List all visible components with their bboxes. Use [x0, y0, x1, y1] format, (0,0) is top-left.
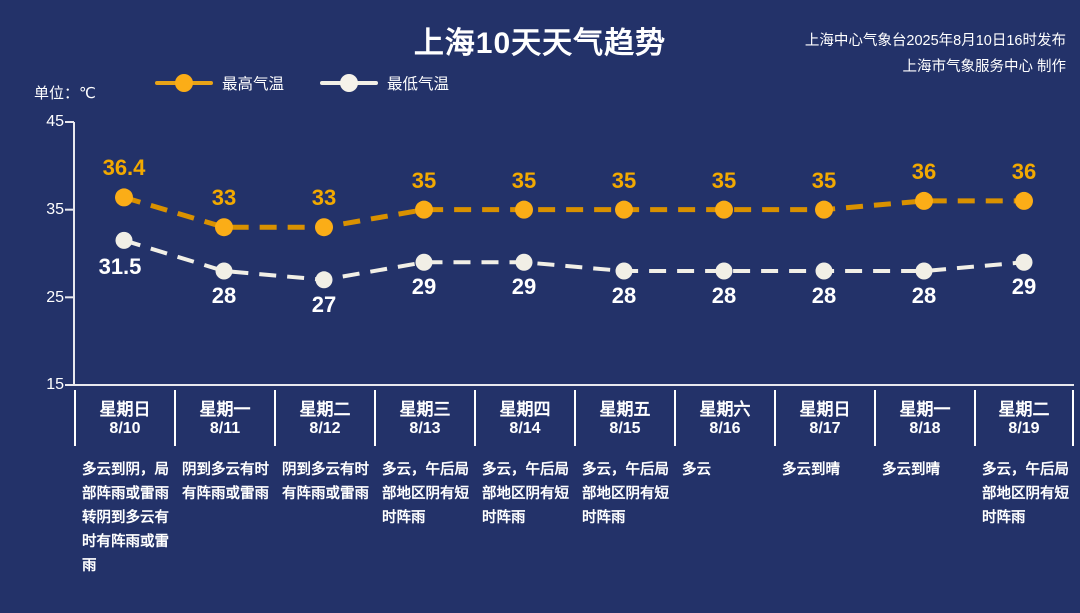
- weather-trend-infographic: 上海10天天气趋势 上海中心气象台2025年8月10日16时发布 上海市气象服务…: [0, 0, 1080, 613]
- low-temp-label: 28: [212, 283, 236, 309]
- day-weather-description: 多云到晴: [874, 458, 974, 482]
- day-column-header[interactable]: 星期日8/17: [774, 390, 874, 446]
- day-weather-description: 多云到阴，局部阵雨或雷雨转阴到多云有时有阵雨或雷雨: [74, 458, 174, 578]
- high-temp-label: 35: [412, 168, 436, 194]
- day-weather-description: 多云，午后局部地区阴有短时阵雨: [374, 458, 474, 530]
- low-temp-label: 28: [612, 283, 636, 309]
- day-weather-description: 阴到多云有时有阵雨或雷雨: [274, 458, 374, 506]
- day-column-header[interactable]: 星期六8/16: [674, 390, 774, 446]
- day-name: 星期三: [376, 395, 474, 420]
- day-column-header[interactable]: 星期日8/10: [74, 390, 174, 446]
- day-date: 8/17: [776, 420, 874, 438]
- low-temp-label: 28: [712, 283, 736, 309]
- day-weather-description: 多云，午后局部地区阴有短时阵雨: [474, 458, 574, 530]
- high-temp-label: 35: [812, 168, 836, 194]
- high-temp-label: 36: [1012, 159, 1036, 185]
- day-date: 8/10: [76, 420, 174, 438]
- day-name: 星期四: [476, 395, 574, 420]
- low-temp-label: 28: [812, 283, 836, 309]
- day-column-header[interactable]: 星期二8/12: [274, 390, 374, 446]
- day-date: 8/18: [876, 420, 974, 438]
- low-temp-label: 29: [412, 274, 436, 300]
- day-name: 星期二: [976, 395, 1072, 420]
- day-date: 8/14: [476, 420, 574, 438]
- high-temp-label: 36.4: [103, 155, 146, 181]
- low-temp-label: 29: [512, 274, 536, 300]
- day-name: 星期日: [776, 395, 874, 420]
- day-name: 星期一: [876, 395, 974, 420]
- day-date: 8/11: [176, 420, 274, 438]
- day-name: 星期二: [276, 395, 374, 420]
- day-column-header[interactable]: 星期二8/19: [974, 390, 1074, 446]
- day-name: 星期五: [576, 395, 674, 420]
- high-temp-label: 35: [512, 168, 536, 194]
- chart-series: [115, 188, 1033, 288]
- day-name: 星期六: [676, 395, 774, 420]
- day-name: 星期日: [76, 395, 174, 420]
- day-column-header[interactable]: 星期一8/11: [174, 390, 274, 446]
- day-weather-description: 多云，午后局部地区阴有短时阵雨: [974, 458, 1074, 530]
- day-weather-description: 多云到晴: [774, 458, 874, 482]
- high-temp-label: 35: [712, 168, 736, 194]
- day-column-header[interactable]: 星期四8/14: [474, 390, 574, 446]
- day-column-header[interactable]: 星期一8/18: [874, 390, 974, 446]
- low-temp-label: 28: [912, 283, 936, 309]
- high-temp-label: 33: [212, 185, 236, 211]
- day-date: 8/13: [376, 420, 474, 438]
- low-temp-label: 29: [1012, 274, 1036, 300]
- day-date: 8/19: [976, 420, 1072, 438]
- high-temp-label: 35: [612, 168, 636, 194]
- low-temp-label: 31.5: [99, 254, 142, 280]
- day-weather-description: 多云，午后局部地区阴有短时阵雨: [574, 458, 674, 530]
- day-weather-description: 阴到多云有时有阵雨或雷雨: [174, 458, 274, 506]
- day-column-header[interactable]: 星期三8/13: [374, 390, 474, 446]
- day-name: 星期一: [176, 395, 274, 420]
- day-date: 8/15: [576, 420, 674, 438]
- day-date: 8/16: [676, 420, 774, 438]
- day-column-header[interactable]: 星期五8/15: [574, 390, 674, 446]
- high-temp-label: 33: [312, 185, 336, 211]
- day-weather-description: 多云: [674, 458, 774, 482]
- low-temp-label: 27: [312, 292, 336, 318]
- day-date: 8/12: [276, 420, 374, 438]
- high-temp-label: 36: [912, 159, 936, 185]
